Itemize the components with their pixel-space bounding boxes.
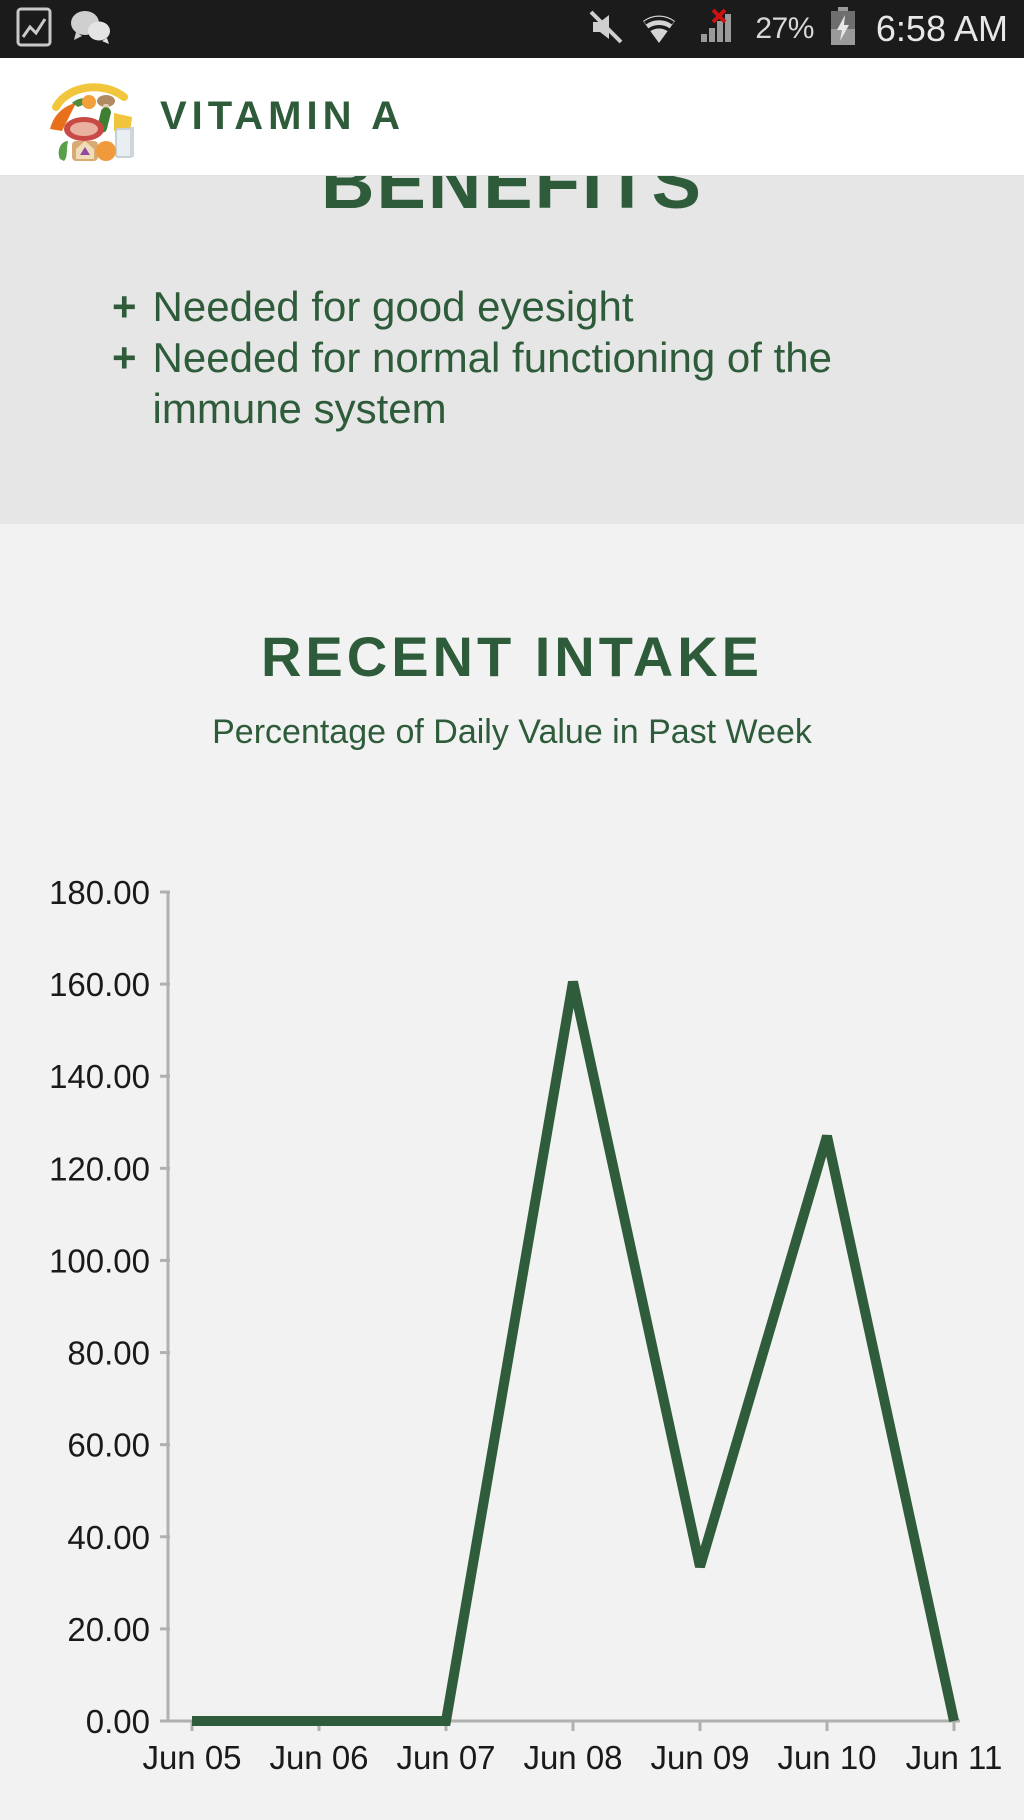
bullet-plus-icon: + [112, 332, 137, 383]
y-axis-tick-label: 80.00 [67, 1335, 150, 1372]
y-axis-tick-label: 180.00 [49, 874, 150, 911]
y-axis-tick-label: 20.00 [67, 1611, 150, 1648]
benefit-text: Needed for good eyesight [153, 281, 634, 332]
x-axis-tick-label: Jun 10 [777, 1739, 876, 1776]
benefit-item: + Needed for good eyesight [112, 281, 928, 332]
mute-icon [587, 8, 625, 51]
status-bar-clock: 6:58 AM [876, 8, 1008, 50]
x-axis-tick-label: Jun 07 [396, 1739, 495, 1776]
y-axis-tick-label: 120.00 [49, 1150, 150, 1187]
android-status-bar: 27% 6:58 AM [0, 0, 1024, 58]
app-header: VITAMIN A [0, 58, 1024, 176]
vitamin-foods-logo-icon [42, 71, 138, 163]
battery-percent-label: 27% [755, 12, 814, 46]
benefits-heading: BENEFITS [0, 176, 1024, 225]
battery-charging-icon [828, 7, 858, 52]
benefit-item: + Needed for normal functioning of the i… [112, 332, 928, 434]
gallery-icon [16, 7, 52, 52]
status-bar-right-icons: 27% 6:58 AM [587, 7, 1008, 52]
x-axis-tick-labels: Jun 05Jun 06Jun 07Jun 08Jun 09Jun 10Jun … [142, 1739, 1002, 1776]
x-axis-tick-label: Jun 09 [650, 1739, 749, 1776]
recent-intake-heading: RECENT INTAKE [0, 524, 1024, 689]
y-axis-tick-label: 160.00 [49, 966, 150, 1003]
bullet-plus-icon: + [112, 281, 137, 332]
benefits-panel: BENEFITS + Needed for good eyesight + Ne… [0, 176, 1024, 524]
x-axis-tick-label: Jun 08 [523, 1739, 622, 1776]
y-axis-tick-label: 140.00 [49, 1058, 150, 1095]
y-axis-ticks: 180.00160.00140.00120.00100.0080.0060.00… [49, 874, 170, 1740]
x-axis-tick-label: Jun 11 [906, 1739, 1003, 1776]
wechat-icon [70, 9, 112, 50]
intake-line-chart[interactable]: 180.00160.00140.00120.00100.0080.0060.00… [0, 874, 1024, 1820]
intake-data-line [192, 982, 954, 1721]
cellular-no-signal-icon [693, 8, 741, 51]
benefits-list: + Needed for good eyesight + Needed for … [0, 281, 1024, 434]
y-axis-tick-label: 60.00 [67, 1427, 150, 1464]
x-axis-tick-label: Jun 06 [269, 1739, 368, 1776]
app-title: VITAMIN A [160, 94, 405, 139]
y-axis-tick-label: 0.00 [86, 1703, 150, 1740]
status-bar-left-icons [16, 7, 112, 52]
benefit-text: Needed for normal functioning of the imm… [153, 332, 928, 434]
y-axis-tick-label: 40.00 [67, 1519, 150, 1556]
recent-intake-section: RECENT INTAKE Percentage of Daily Value … [0, 524, 1024, 1820]
wifi-icon [639, 9, 679, 50]
recent-intake-subheading: Percentage of Daily Value in Past Week [0, 713, 1024, 752]
y-axis-tick-label: 100.00 [49, 1242, 150, 1279]
x-axis-tick-label: Jun 05 [142, 1739, 241, 1776]
